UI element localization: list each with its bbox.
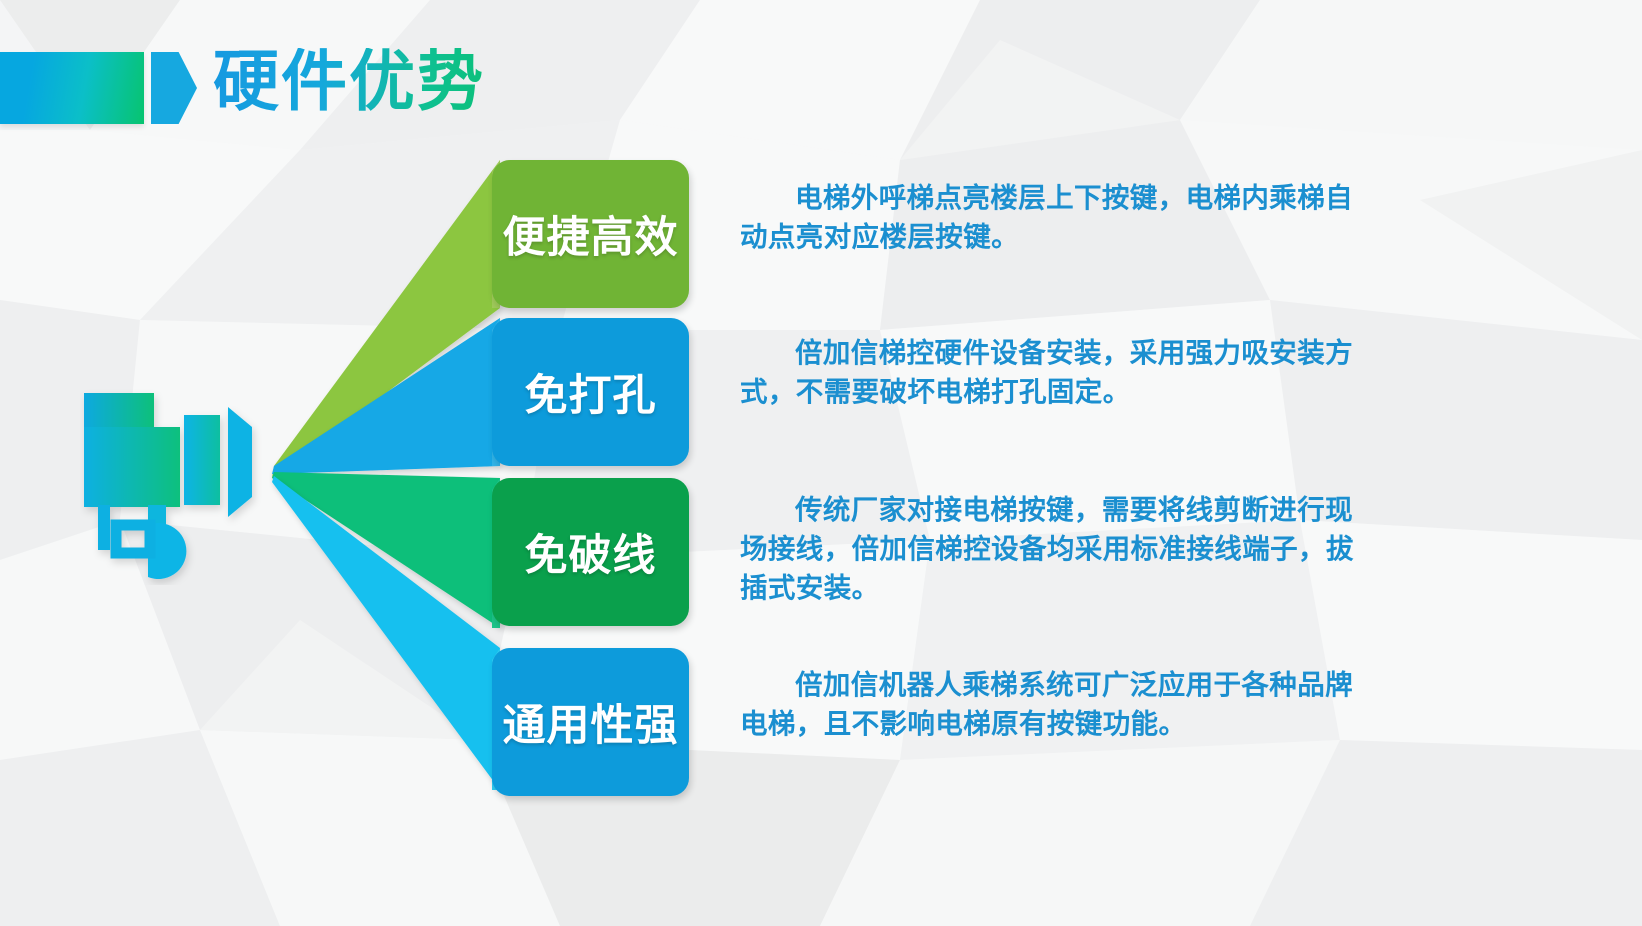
description-2: 倍加信梯控硬件设备安装，采用强力吸安装方式，不需要破坏电梯打孔固定。 xyxy=(740,333,1380,411)
projector-icon xyxy=(80,385,290,585)
slide-canvas: 硬件优势 xyxy=(0,0,1642,926)
label-box-1[interactable]: 便捷高效 xyxy=(492,160,689,308)
description-1: 电梯外呼梯点亮楼层上下按键，电梯内乘梯自动点亮对应楼层按键。 xyxy=(740,178,1380,256)
label-box-1-text: 便捷高效 xyxy=(503,203,679,265)
label-box-2-text: 免打孔 xyxy=(525,361,657,423)
title-gradient-bar xyxy=(0,52,144,124)
label-box-3-text: 免破线 xyxy=(525,521,657,583)
description-3: 传统厂家对接电梯按键，需要将线剪断进行现场接线，倍加信梯控设备均采用标准接线端子… xyxy=(740,490,1380,607)
label-box-2[interactable]: 免打孔 xyxy=(492,318,689,466)
page-title: 硬件优势 xyxy=(213,48,485,114)
description-4: 倍加信机器人乘梯系统可广泛应用于各种品牌电梯，且不影响电梯原有按键功能。 xyxy=(740,665,1380,743)
label-box-4[interactable]: 通用性强 xyxy=(492,648,689,796)
label-box-4-text: 通用性强 xyxy=(503,691,679,753)
label-box-3[interactable]: 免破线 xyxy=(492,478,689,626)
